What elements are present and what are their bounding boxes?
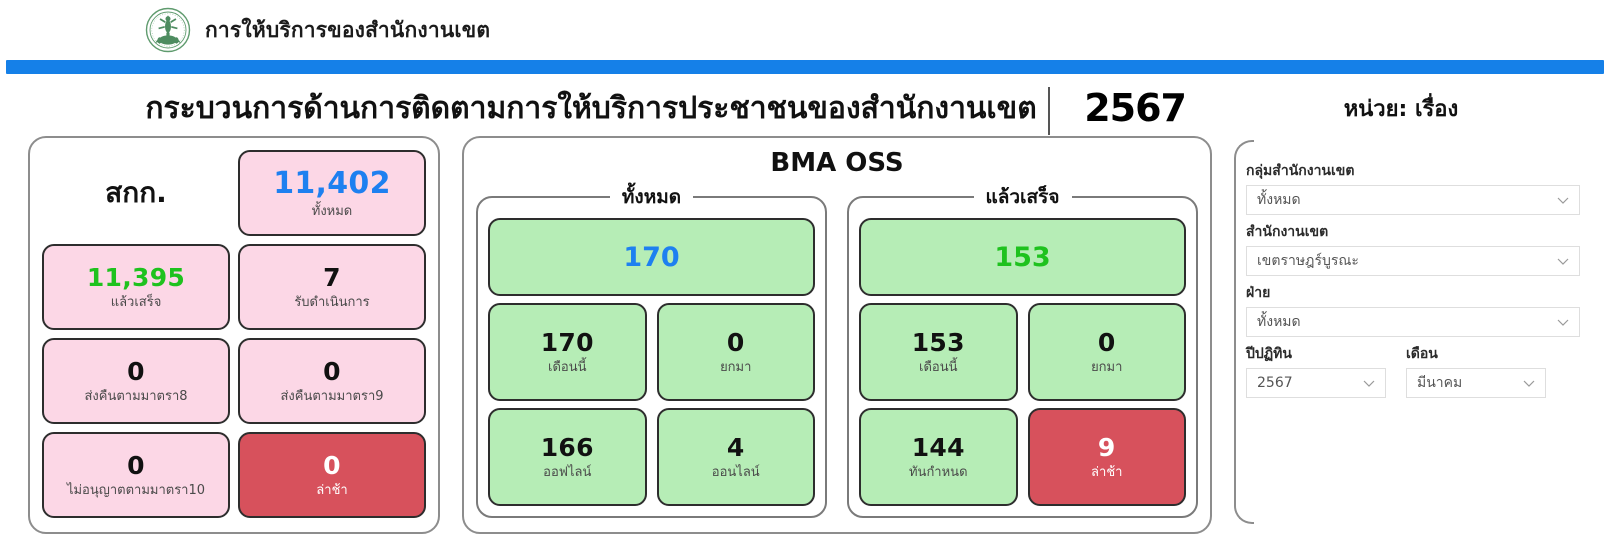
filter-month: เดือน มีนาคม (1406, 343, 1546, 398)
filter-date-row: ปีปฏิทิน 2567 เดือน มีนาคม (1246, 343, 1580, 404)
stat-value: 11,395 (87, 264, 185, 292)
stat-label: ล่าช้า (316, 484, 347, 498)
filter-label: เดือน (1406, 343, 1546, 365)
stat-label: ส่งคืนตามมาตรา8 (84, 390, 187, 404)
stat-value: 0 (127, 452, 145, 480)
stat-card-returned-s8[interactable]: 0 ส่งคืนตามมาตรา8 (42, 338, 230, 424)
filter-label: สำนักงานเขต (1246, 221, 1580, 243)
chevron-down-icon (1555, 253, 1571, 269)
page-title: กระบวนการด้านการติดตามการให้บริการประชาช… (0, 85, 1206, 132)
stat-label: ออฟไลน์ (543, 466, 591, 480)
stat-value: 9 (1098, 434, 1116, 462)
stat-card-delayed[interactable]: 0 ล่าช้า (238, 432, 426, 518)
stat-label: ยกมา (720, 361, 751, 375)
chevron-down-icon (1521, 375, 1537, 391)
chevron-down-icon (1361, 375, 1377, 391)
filter-division: ฝ่าย ทั้งหมด (1246, 282, 1580, 337)
district-office-select[interactable]: เขตราษฎร์บูรณะ (1246, 246, 1580, 276)
stat-value: 170 (541, 329, 594, 357)
stat-label: ล่าช้า (1091, 466, 1122, 480)
stat-card-on-time[interactable]: 144 ทันกำหนด (859, 408, 1018, 506)
month-select[interactable]: มีนาคม (1406, 368, 1546, 398)
filter-district-office: สำนักงานเขต เขตราษฎร์บูรณะ (1246, 221, 1580, 276)
chevron-down-icon (1555, 192, 1571, 208)
stat-label: เดือนนี้ (919, 361, 957, 375)
select-value: ทั้งหมด (1257, 189, 1555, 211)
title-divider (1048, 87, 1050, 135)
stat-label: ยกมา (1091, 361, 1122, 375)
district-group-select[interactable]: ทั้งหมด (1246, 185, 1580, 215)
chevron-down-icon (1555, 314, 1571, 330)
stat-label: รับดำเนินการ (294, 296, 369, 310)
stat-label: ทันกำหนด (909, 466, 968, 480)
stat-label: เดือนนี้ (548, 361, 586, 375)
filter-label: ปีปฏิทิน (1246, 343, 1386, 365)
stat-value: 0 (1098, 329, 1116, 357)
stat-label: ไม่อนุญาตตามมาตรา10 (67, 484, 205, 498)
dashboard-title-row: กระบวนการด้านการติดตามการให้บริการประชาช… (0, 80, 1610, 136)
stat-value: 153 (912, 329, 965, 357)
group-total-value: 170 (623, 242, 679, 273)
division-select[interactable]: ทั้งหมด (1246, 307, 1580, 337)
stat-value: 7 (323, 264, 341, 292)
stat-card-returned-s9[interactable]: 0 ส่งคืนตามมาตรา9 (238, 338, 426, 424)
accent-bar (6, 60, 1604, 74)
page-title-text: กระบวนการด้านการติดตามการให้บริการประชาช… (145, 85, 1036, 132)
stat-value: 0 (127, 358, 145, 386)
group-total-card[interactable]: 170 (488, 218, 815, 296)
filter-label: ฝ่าย (1246, 282, 1580, 304)
stat-value: 144 (912, 434, 965, 462)
app-header: การให้บริการของสำนักงานเขต (0, 0, 1610, 60)
stat-card-this-month[interactable]: 170 เดือนนี้ (488, 303, 647, 401)
stat-card-online[interactable]: 4 ออนไลน์ (657, 408, 816, 506)
bma-group-completed: แล้วเสร็จ 153 153 เดือนนี้ 0 ยกมา (847, 182, 1198, 518)
stat-label: ส่งคืนตามมาตรา9 (280, 390, 383, 404)
stat-value: 0 (323, 358, 341, 386)
select-value: ทั้งหมด (1257, 311, 1555, 333)
filters-panel: กลุ่มสำนักงานเขต ทั้งหมด สำนักงานเขต เขต… (1234, 136, 1600, 534)
stat-card-carried-over[interactable]: 0 ยกมา (1028, 303, 1187, 401)
stat-label: ทั้งหมด (312, 205, 353, 219)
dashboard-board: สกก. 11,402 ทั้งหมด 11,395 แล้วเสร็จ 7 ร… (0, 136, 1610, 534)
stat-value: 11,402 (273, 167, 391, 200)
stat-card-offline[interactable]: 166 ออฟไลน์ (488, 408, 647, 506)
stat-card-completed[interactable]: 11,395 แล้วเสร็จ (42, 244, 230, 330)
select-value: เขตราษฎร์บูรณะ (1257, 250, 1555, 272)
stat-card-in-progress[interactable]: 7 รับดำเนินการ (238, 244, 426, 330)
stat-value: 0 (727, 329, 745, 357)
stat-label: แล้วเสร็จ (111, 296, 162, 310)
stat-label: ออนไลน์ (712, 466, 760, 480)
group-total-card[interactable]: 153 (859, 218, 1186, 296)
calendar-year-select[interactable]: 2567 (1246, 368, 1386, 398)
bma-group-all: ทั้งหมด 170 170 เดือนนี้ 0 ยกมา (476, 182, 827, 518)
app-title: การให้บริการของสำนักงานเขต (205, 14, 490, 47)
select-value: 2567 (1257, 375, 1361, 391)
filter-label: กลุ่มสำนักงานเขต (1246, 160, 1580, 182)
filter-calendar-year: ปีปฏิทิน 2567 (1246, 343, 1386, 398)
stat-value: 166 (541, 434, 594, 462)
group-total-value: 153 (994, 242, 1050, 273)
stat-value: 4 (727, 434, 745, 462)
bma-oss-heading: BMA OSS (476, 148, 1198, 178)
filter-district-group: กลุ่มสำนักงานเขต ทั้งหมด (1246, 160, 1580, 215)
group-legend: ทั้งหมด (610, 182, 693, 212)
select-value: มีนาคม (1417, 372, 1521, 394)
stat-value: 0 (323, 452, 341, 480)
stat-card-denied-s10[interactable]: 0 ไม่อนุญาตตามมาตรา10 (42, 432, 230, 518)
department-name: สกก. (42, 150, 230, 236)
unit-label: หน่วย: เรื่อง (1206, 91, 1596, 126)
title-year: 2567 (1084, 86, 1186, 130)
bma-oss-panel: BMA OSS ทั้งหมด 170 170 เดือนนี้ 0 ยกมา (462, 136, 1212, 534)
stat-card-delayed[interactable]: 9 ล่าช้า (1028, 408, 1187, 506)
group-legend: แล้วเสร็จ (974, 182, 1072, 212)
bma-seal-icon (145, 7, 191, 53)
department-panel: สกก. 11,402 ทั้งหมด 11,395 แล้วเสร็จ 7 ร… (28, 136, 440, 534)
stat-card-this-month[interactable]: 153 เดือนนี้ (859, 303, 1018, 401)
stat-card-carried-over[interactable]: 0 ยกมา (657, 303, 816, 401)
stat-card-total[interactable]: 11,402 ทั้งหมด (238, 150, 426, 236)
